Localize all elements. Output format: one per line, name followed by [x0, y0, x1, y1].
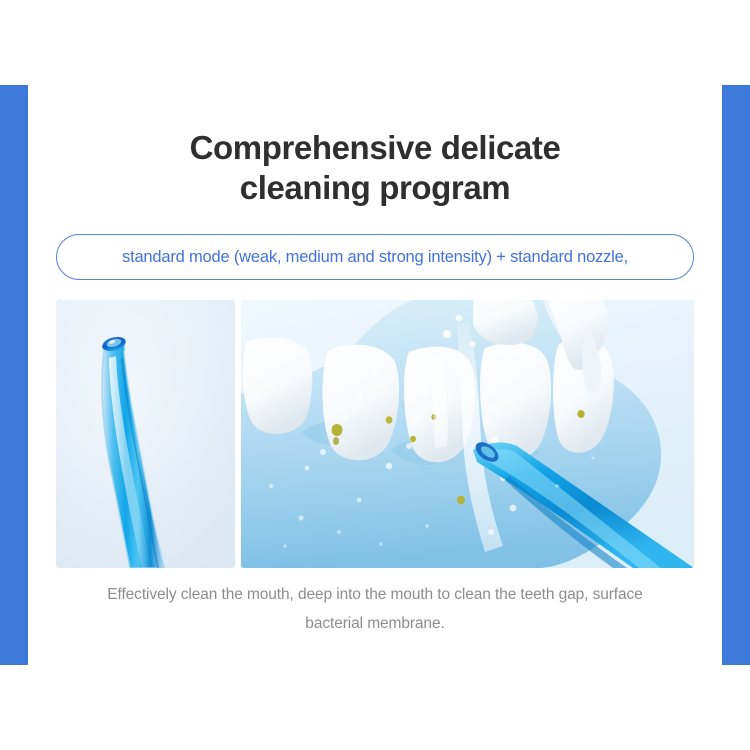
left-accent-bar: [0, 85, 28, 665]
teeth-photo-panel: [241, 300, 694, 568]
nozzle-icon: [56, 300, 235, 568]
mode-badge: standard mode (weak, medium and strong i…: [56, 234, 694, 280]
title-line-1: Comprehensive delicate: [60, 128, 690, 168]
teeth-water-jet-icon: [241, 300, 694, 568]
right-accent-bar: [722, 85, 750, 665]
title-line-2: cleaning program: [60, 168, 690, 208]
nozzle-photo-panel: [56, 300, 235, 568]
product-feature-slide: Comprehensive delicate cleaning program …: [0, 0, 750, 750]
page-title: Comprehensive delicate cleaning program: [60, 128, 690, 208]
mode-badge-label: standard mode (weak, medium and strong i…: [122, 248, 628, 267]
feature-caption: Effectively clean the mouth, deep into t…: [60, 580, 690, 638]
caption-line-2: bacterial membrane.: [305, 615, 444, 632]
media-row: [56, 300, 694, 568]
caption-line-1: Effectively clean the mouth, deep into t…: [107, 586, 642, 603]
